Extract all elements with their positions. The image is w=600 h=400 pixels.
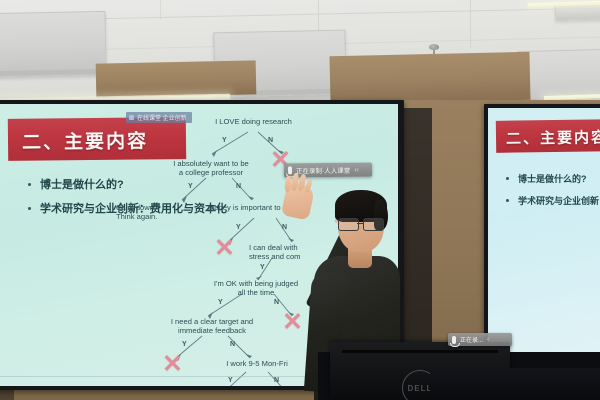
- flow-node-love-research: I LOVE doing research: [201, 118, 306, 127]
- bullet-dot-icon: [506, 177, 509, 180]
- branch-label-no: N: [274, 299, 279, 306]
- branch-label-yes: Y: [182, 341, 187, 348]
- slide-bullet: 学术研究与企业创新：费用化与资: [506, 194, 600, 207]
- sprinkler-head-icon: [429, 44, 439, 50]
- flow-node-clear-target: I need a clear target and immediate feed…: [146, 318, 278, 336]
- x-mark-icon: ✕: [162, 352, 183, 377]
- branch-label-no: N: [268, 137, 273, 144]
- podium-surface: [430, 368, 600, 400]
- branch-label-no: N: [236, 183, 241, 190]
- monitor-vent: [342, 350, 498, 353]
- branch-label-yes: Y: [188, 183, 193, 190]
- branch-label-yes: Y: [228, 377, 233, 384]
- branch-label-no: N: [230, 341, 235, 348]
- slide-bullet-text: 博士是做什么的?: [518, 172, 587, 185]
- chevron-left-icon[interactable]: ‹: [487, 336, 489, 343]
- branch-label-yes: Y: [218, 299, 223, 306]
- slide-bullet: 博士是做什么的?: [506, 172, 587, 185]
- flow-node-professor: I absolutely want to be a college profes…: [156, 160, 266, 178]
- glasses-lens-right: [363, 218, 384, 231]
- wall-upper-band: [96, 60, 257, 97]
- branch-label-yes: Y: [236, 224, 241, 231]
- recording-toolbar-desk[interactable]: 正在录... ‹: [448, 333, 512, 346]
- bullet-dot-icon: [506, 199, 509, 202]
- branch-label-no: N: [274, 377, 279, 384]
- x-mark-icon: ✕: [214, 236, 235, 261]
- flow-node-calm-down: Calm down. Think again.: [116, 204, 188, 222]
- recording-toolbar-label: 正在录...: [460, 335, 483, 344]
- wall-upper-band: [329, 52, 530, 105]
- right-projection-screen: 二、主要内容 博士是做什么的? 学术研究与企业创新：费用化与资: [488, 108, 600, 370]
- ceiling-panel: [0, 11, 107, 77]
- branch-label-yes: Y: [222, 137, 227, 144]
- slide-bullet-text: 学术研究与企业创新：费用化与资: [518, 194, 600, 207]
- chevron-left-icon[interactable]: ‹‹: [354, 166, 359, 173]
- microphone-icon[interactable]: [452, 336, 456, 344]
- lecture-hall-photo: 二、主要内容 在线课堂 企业创新 博士是做什么的? 学术研究与企业创新：费用化与…: [0, 0, 600, 400]
- glasses-lens-left: [338, 218, 359, 231]
- microphone-icon[interactable]: [288, 166, 292, 174]
- presenter-glasses: [337, 218, 387, 230]
- slide-title-text: 二、主要内容: [506, 126, 600, 148]
- branch-label-yes: Y: [260, 264, 265, 271]
